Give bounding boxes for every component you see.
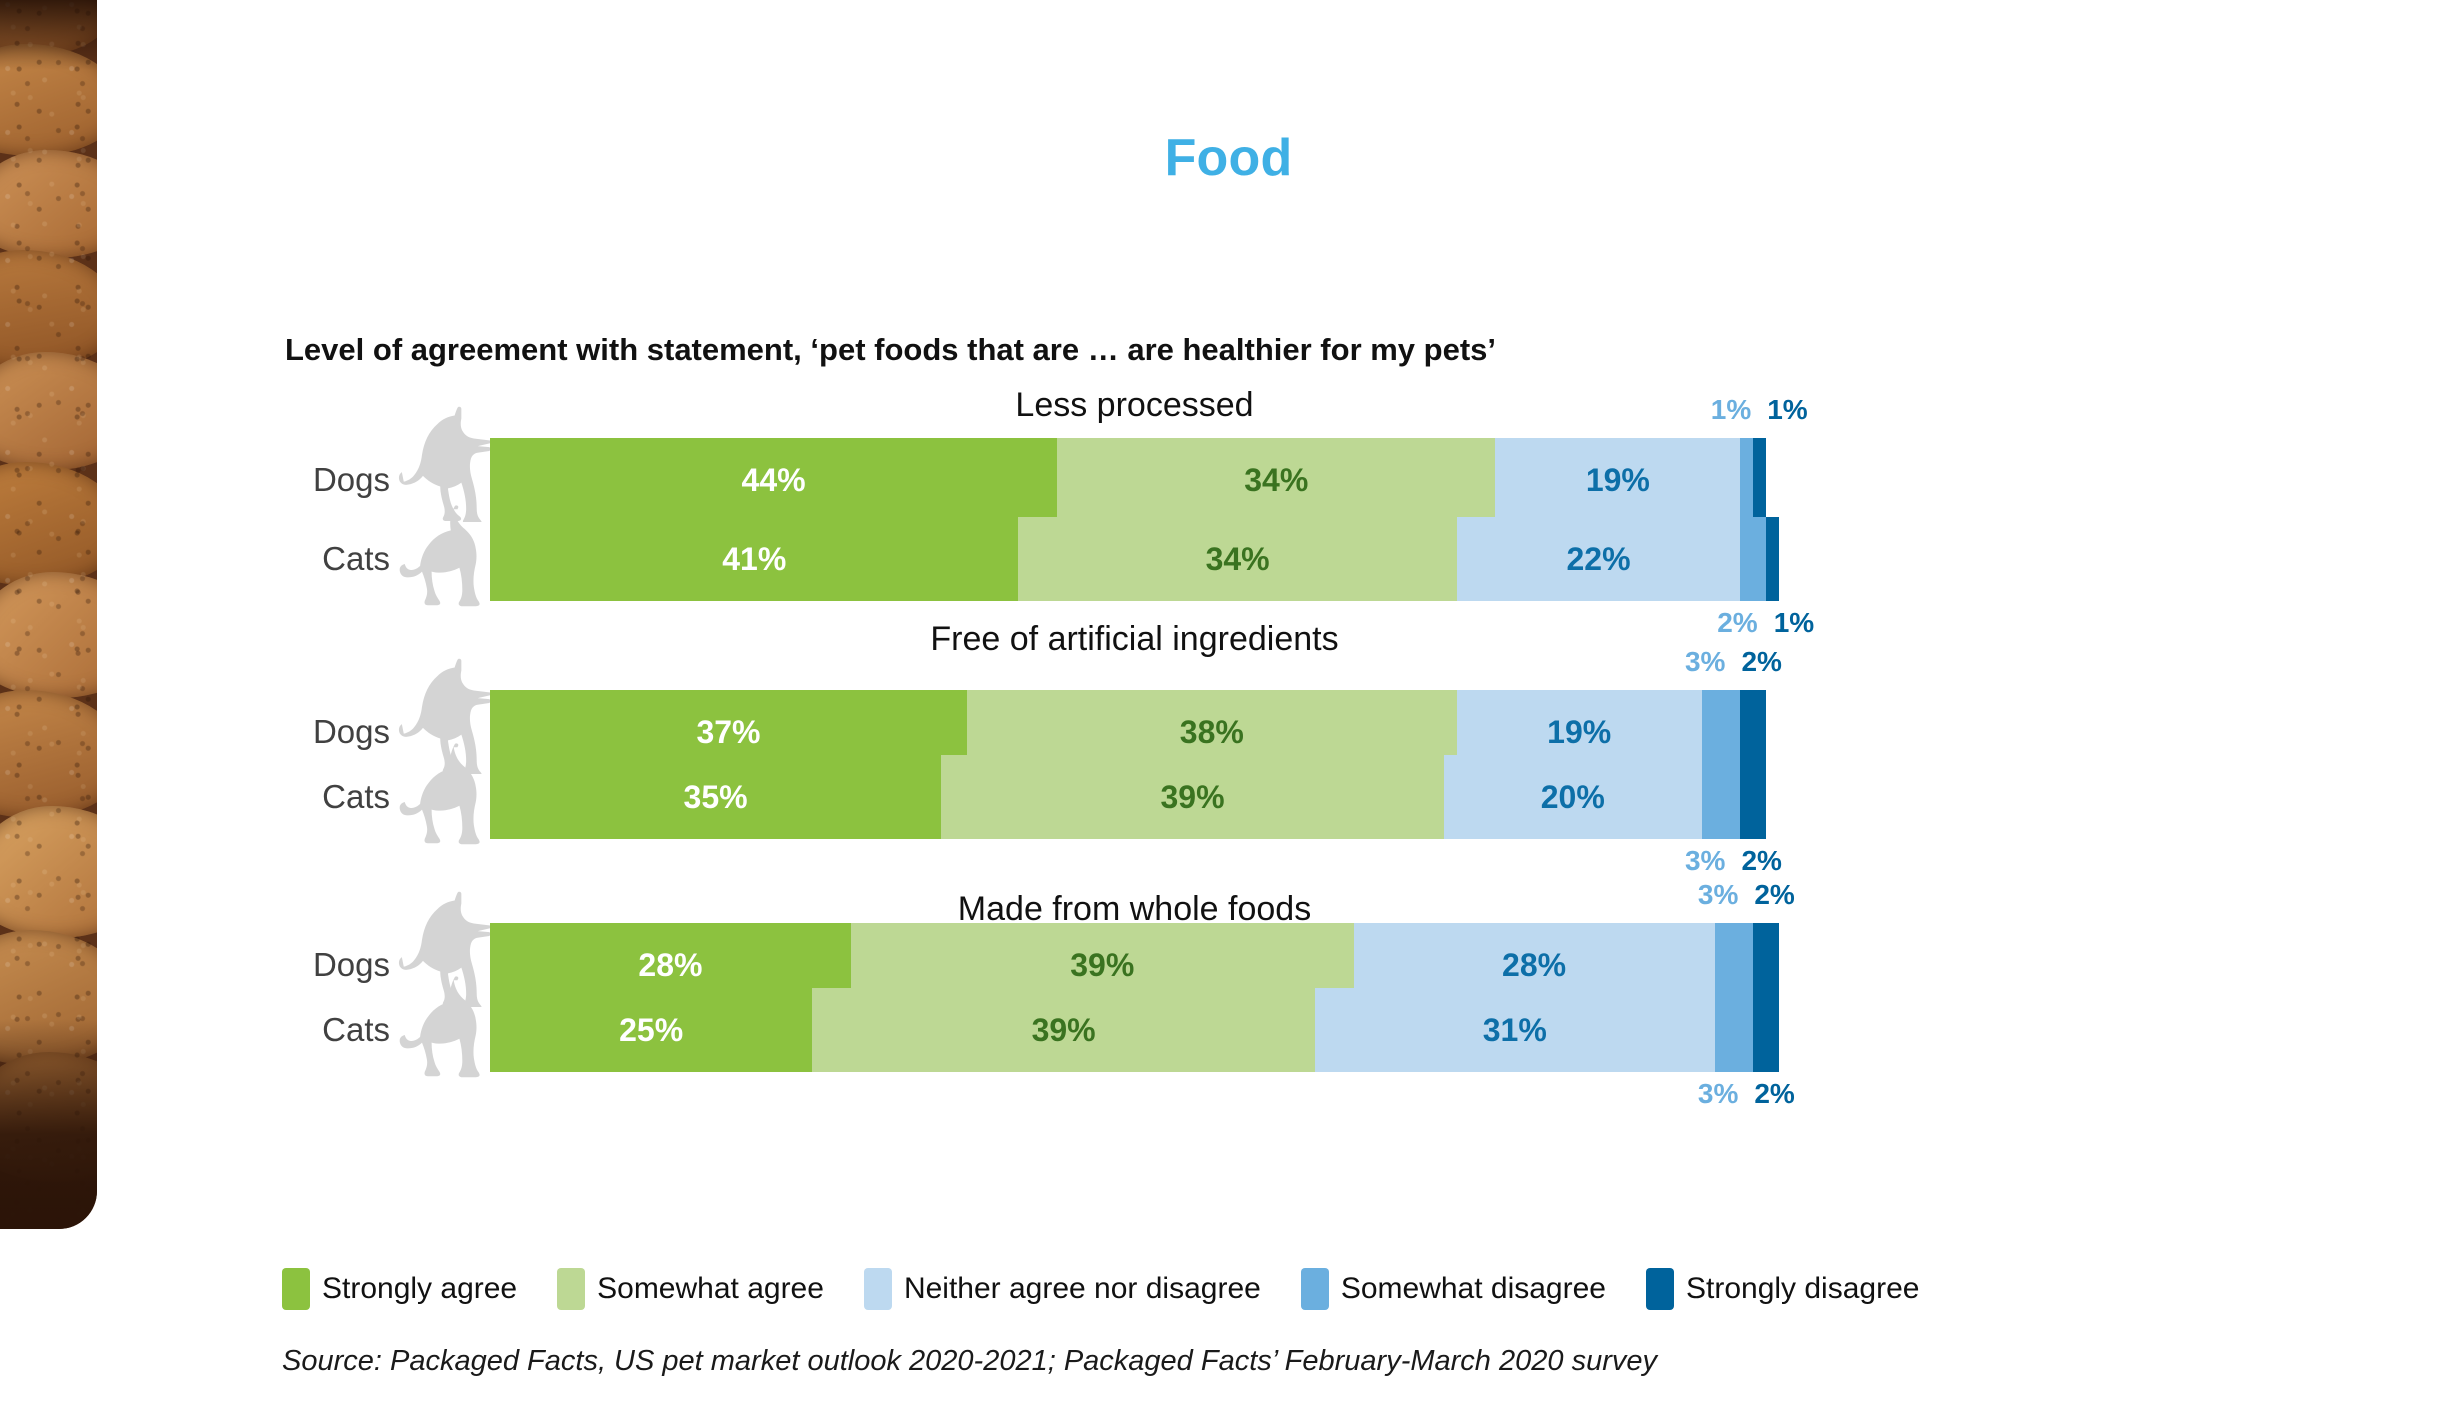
legend-item-label: Neither agree nor disagree xyxy=(904,1272,1261,1306)
outer-label-somewhat-disagree: 1% xyxy=(1711,394,1751,425)
legend-item-label: Somewhat agree xyxy=(597,1272,824,1306)
bar-segment: 19% xyxy=(1495,438,1740,522)
stacked-bar: 35%39%20% xyxy=(490,755,1779,839)
bar-segment-label: 20% xyxy=(1541,779,1605,816)
outer-label-strongly-disagree: 1% xyxy=(1767,394,1807,425)
outer-value-labels: 3%2% xyxy=(1698,879,1795,911)
outer-label-somewhat-disagree: 3% xyxy=(1685,646,1725,677)
bar-segment-label: 28% xyxy=(1502,947,1566,984)
bar-segment-label: 35% xyxy=(684,779,748,816)
chart-row: Cats25%39%31%3%2% xyxy=(0,988,2457,1072)
row-category-label: Dogs xyxy=(230,438,390,522)
outer-label-strongly-disagree: 2% xyxy=(1754,879,1794,910)
bar-segment: 41% xyxy=(490,517,1018,601)
bar-segment-label: 22% xyxy=(1567,541,1631,578)
bar-segment: 22% xyxy=(1457,517,1741,601)
bar-segment: 39% xyxy=(941,755,1444,839)
chart-subtitle: Level of agreement with statement, ‘pet … xyxy=(285,332,1496,368)
legend-swatch-strongly-agree xyxy=(282,1268,310,1310)
outer-value-labels: 3%2% xyxy=(1685,845,1782,877)
bar-segment-label: 39% xyxy=(1160,779,1224,816)
bar-segment-label: 38% xyxy=(1180,714,1244,751)
chart-row: Cats35%39%20%3%2% xyxy=(0,755,2457,839)
outer-label-somewhat-disagree: 3% xyxy=(1698,879,1738,910)
bar-segment: 34% xyxy=(1057,438,1495,522)
chart-row: Cats41%34%22%2%1% xyxy=(0,517,2457,601)
legend-item[interactable]: Strongly disagree xyxy=(1646,1268,1919,1310)
bar-segment-label: 37% xyxy=(696,714,760,751)
bar-segment xyxy=(1753,988,1779,1072)
row-category-label: Cats xyxy=(230,755,390,839)
outer-label-strongly-disagree: 2% xyxy=(1741,845,1781,876)
chart-group-title: Free of artificial ingredients xyxy=(490,620,1779,659)
bar-segment xyxy=(1740,517,1766,601)
bar-segment-label: 41% xyxy=(722,541,786,578)
legend-item[interactable]: Somewhat agree xyxy=(557,1268,824,1310)
legend-swatch-strongly-disagree xyxy=(1646,1268,1674,1310)
bar-segment xyxy=(1766,517,1779,601)
bar-segment xyxy=(1753,438,1766,522)
slide-canvas: Food Level of agreement with statement, … xyxy=(0,0,2457,1417)
bar-segment: 25% xyxy=(490,988,812,1072)
bar-segment-label: 44% xyxy=(742,462,806,499)
legend-swatch-somewhat-agree xyxy=(557,1268,585,1310)
bar-segment-label: 34% xyxy=(1206,541,1270,578)
bar-segment xyxy=(1715,988,1754,1072)
bar-segment xyxy=(1740,438,1753,522)
stacked-bar: 41%34%22% xyxy=(490,517,1779,601)
bar-segment-label: 39% xyxy=(1070,947,1134,984)
outer-label-strongly-disagree: 2% xyxy=(1754,1078,1794,1109)
stacked-bar: 44%34%19% xyxy=(490,438,1779,522)
legend-item-label: Somewhat disagree xyxy=(1341,1272,1606,1306)
outer-value-labels: 3%2% xyxy=(1685,646,1782,678)
outer-value-labels: 3%2% xyxy=(1698,1078,1795,1110)
bar-segment-label: 31% xyxy=(1483,1012,1547,1049)
outer-label-somewhat-disagree: 3% xyxy=(1685,845,1725,876)
legend-swatch-neither xyxy=(864,1268,892,1310)
legend-item[interactable]: Somewhat disagree xyxy=(1301,1268,1606,1310)
bar-segment: 35% xyxy=(490,755,941,839)
bar-segment: 39% xyxy=(812,988,1315,1072)
outer-label-strongly-disagree: 1% xyxy=(1774,607,1814,638)
chart-legend: Strongly agreeSomewhat agreeNeither agre… xyxy=(282,1268,1959,1310)
legend-item-label: Strongly disagree xyxy=(1686,1272,1919,1306)
bar-segment: 20% xyxy=(1444,755,1702,839)
cat-silhouette-icon xyxy=(398,485,494,611)
chart-row: Dogs44%34%19%1%1% xyxy=(0,438,2457,522)
legend-swatch-somewhat-disagree xyxy=(1301,1268,1329,1310)
bar-segment xyxy=(1740,755,1766,839)
bar-segment-label: 25% xyxy=(619,1012,683,1049)
bar-segment-label: 34% xyxy=(1244,462,1308,499)
bar-segment: 34% xyxy=(1018,517,1456,601)
cat-silhouette-icon xyxy=(398,956,494,1082)
bar-segment: 44% xyxy=(490,438,1057,522)
bar-segment-label: 39% xyxy=(1032,1012,1096,1049)
legend-item[interactable]: Neither agree nor disagree xyxy=(864,1268,1261,1310)
legend-item-label: Strongly agree xyxy=(322,1272,517,1306)
outer-value-labels: 1%1% xyxy=(1711,394,1808,426)
outer-label-somewhat-disagree: 3% xyxy=(1698,1078,1738,1109)
bar-segment: 31% xyxy=(1315,988,1715,1072)
page-title: Food xyxy=(0,128,2457,188)
row-category-label: Cats xyxy=(230,517,390,601)
bar-segment xyxy=(1702,755,1741,839)
bar-segment-label: 19% xyxy=(1586,462,1650,499)
chart-group-title: Less processed xyxy=(490,386,1779,425)
bar-segment-label: 28% xyxy=(638,947,702,984)
legend-item[interactable]: Strongly agree xyxy=(282,1268,517,1310)
row-category-label: Cats xyxy=(230,988,390,1072)
outer-label-strongly-disagree: 2% xyxy=(1741,646,1781,677)
stacked-bar: 25%39%31% xyxy=(490,988,1779,1072)
cat-silhouette-icon xyxy=(398,723,494,849)
source-note: Source: Packaged Facts, US pet market ou… xyxy=(282,1345,1657,1378)
bar-segment-label: 19% xyxy=(1547,714,1611,751)
